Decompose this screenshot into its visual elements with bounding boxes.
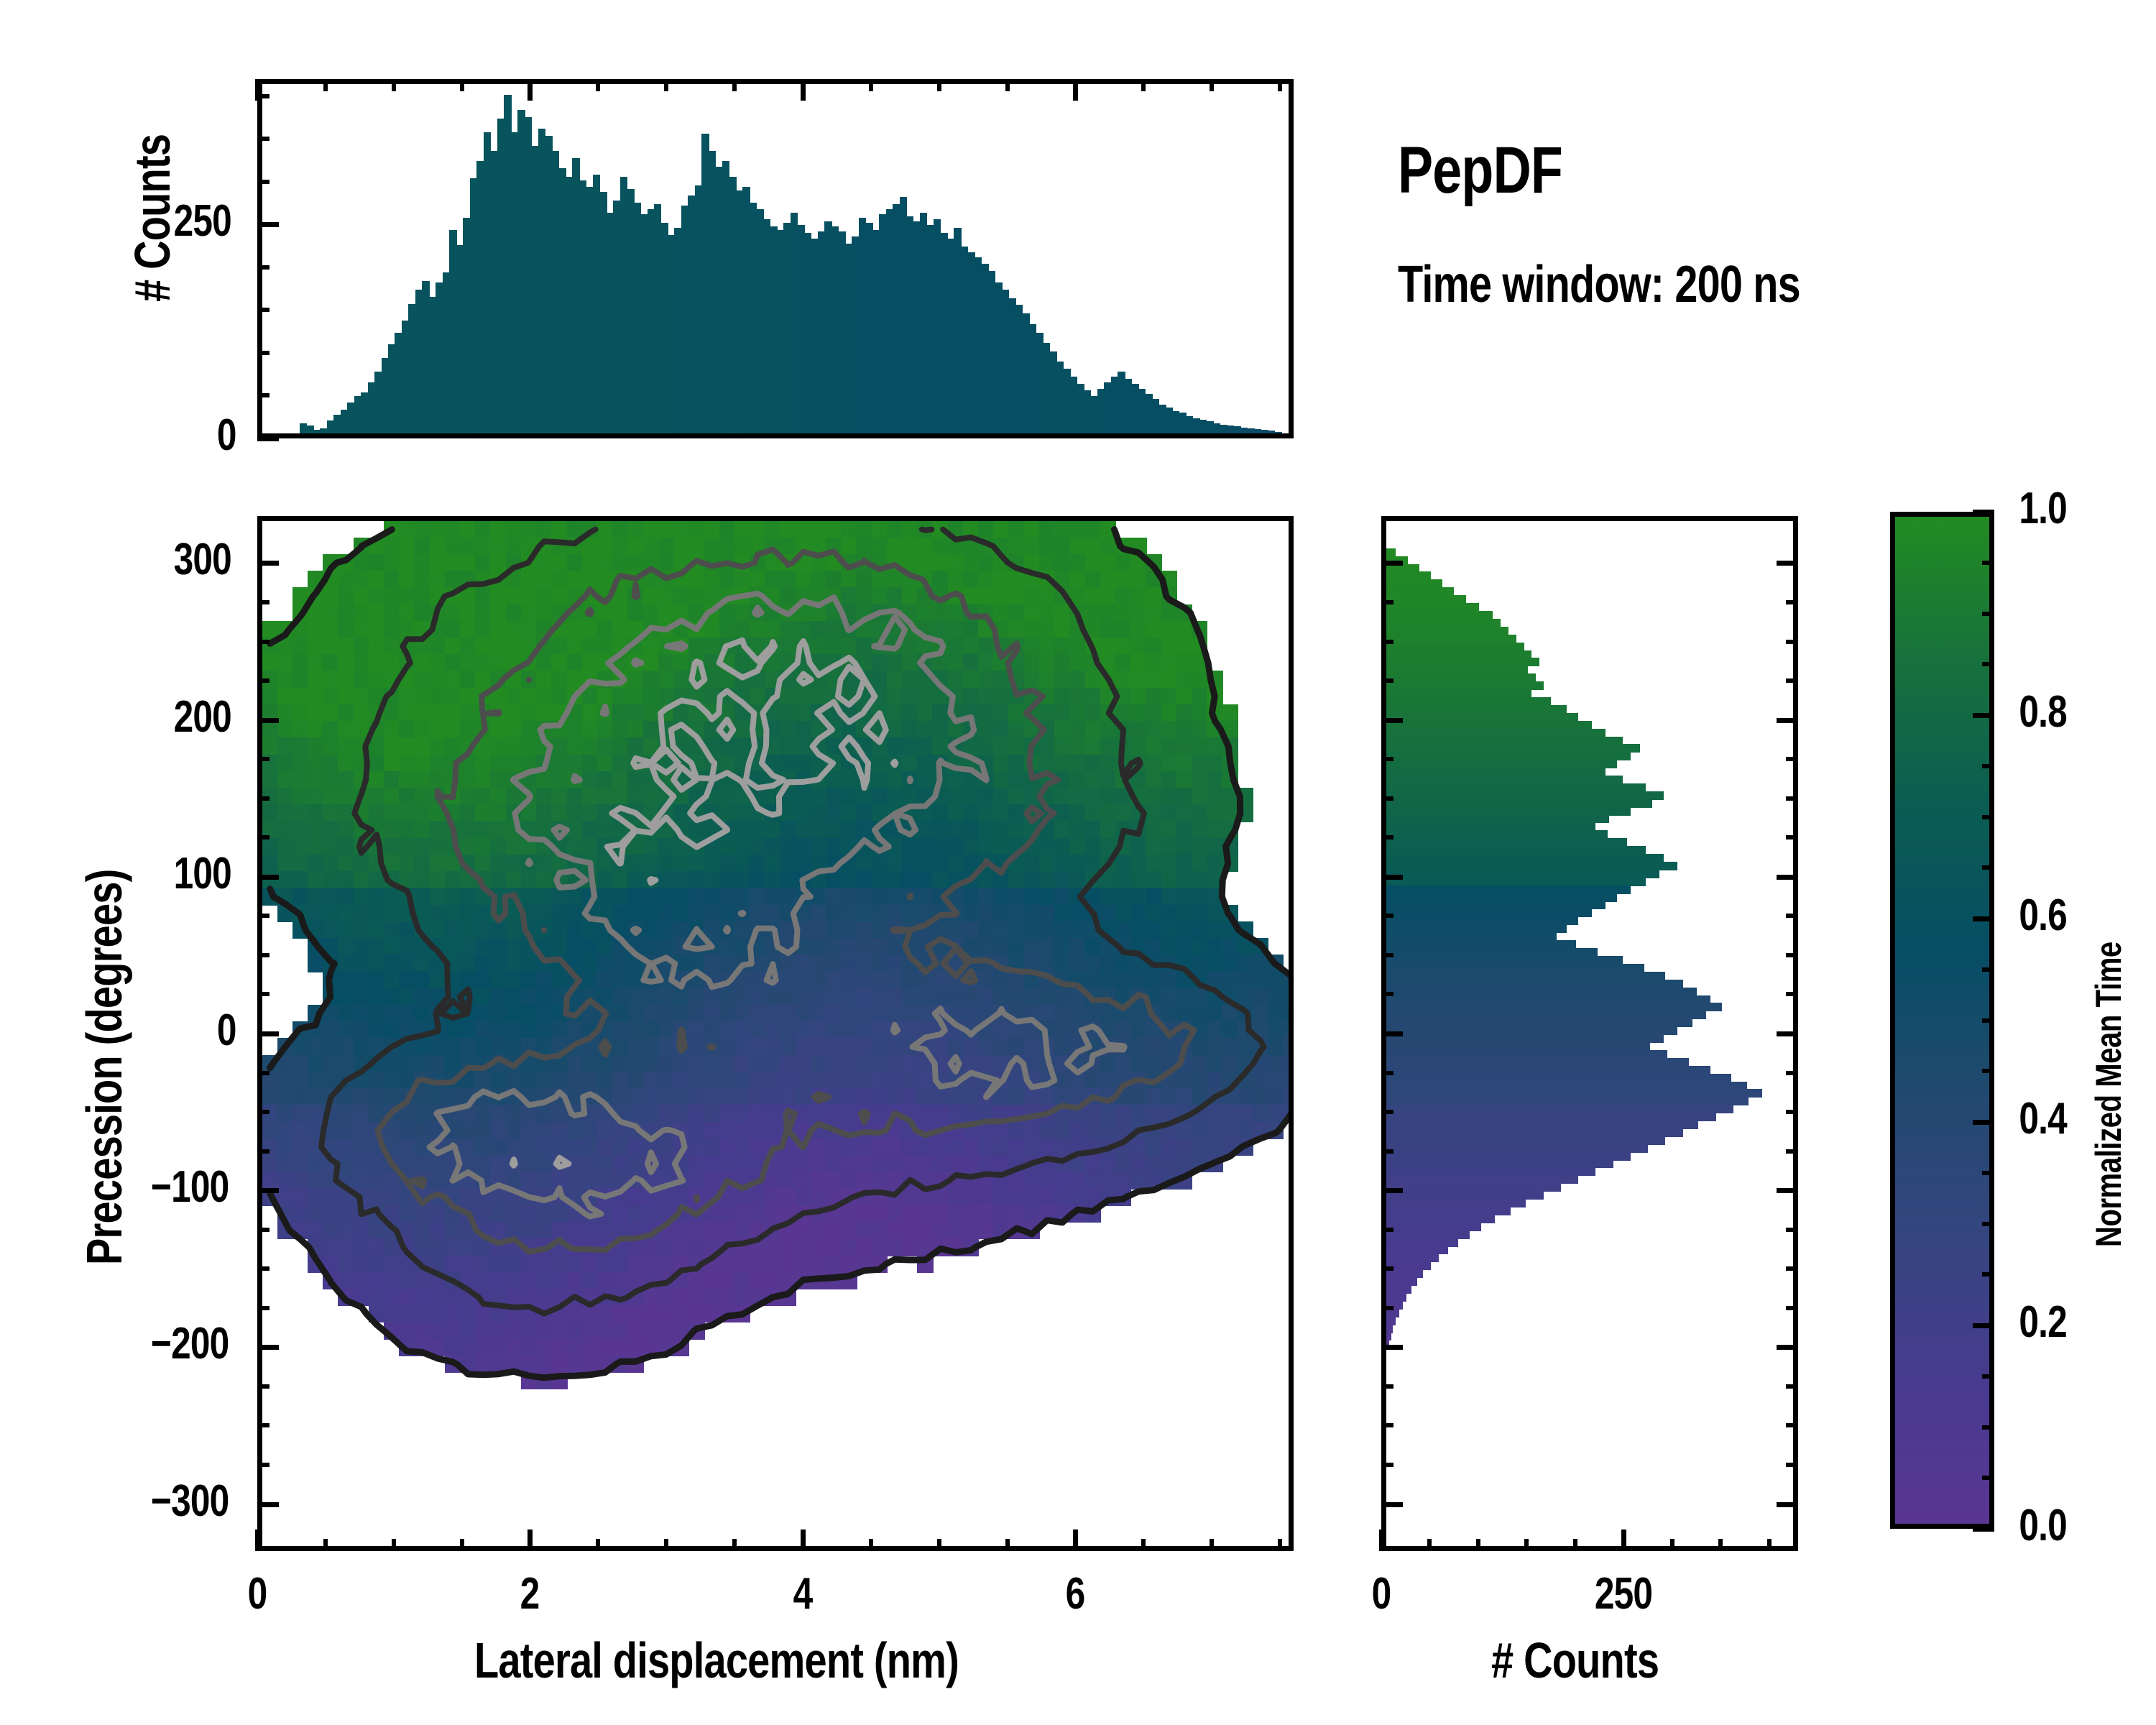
axis-tick: [869, 1539, 873, 1551]
axis-tick: [801, 1529, 806, 1551]
colorbar: [1890, 512, 1994, 1529]
axis-tick-label: 6: [1064, 1568, 1087, 1619]
colorbar-label: Normalized Mean Time: [2088, 865, 2129, 1247]
axis-tick: [1381, 600, 1393, 604]
axis-tick-label: 0.6: [2013, 890, 2073, 941]
axis-tick: [1381, 1463, 1393, 1467]
axis-tick: [1381, 718, 1403, 723]
contour-line: [512, 640, 896, 1167]
axis-tick: [323, 79, 328, 91]
axis-tick: [1381, 992, 1393, 996]
axis-tick: [1786, 914, 1798, 918]
axis-tick: [1777, 1502, 1798, 1507]
axis-tick: [1381, 914, 1393, 918]
axis-tick: [460, 79, 464, 91]
axis-tick: [1379, 1529, 1384, 1551]
top-histogram-plot-area: [262, 84, 1289, 433]
axis-tick: [801, 79, 806, 101]
axis-tick: [1381, 757, 1393, 761]
axis-tick: [257, 1423, 269, 1427]
axis-tick: [1381, 1423, 1393, 1427]
axis-tick-label: 0.0: [2013, 1500, 2073, 1551]
axis-tick: [1982, 1374, 1994, 1379]
axis-tick: [1381, 835, 1393, 839]
axis-tick: [1982, 1425, 1994, 1430]
axis-tick: [1767, 1539, 1772, 1551]
axis-tick: [1982, 612, 1994, 616]
axis-tick: [1381, 1266, 1393, 1271]
axis-tick: [257, 992, 269, 996]
axis-tick: [1786, 678, 1798, 683]
main-panel-ylabel: Precession (degrees): [75, 770, 133, 1265]
axis-tick: [1381, 1031, 1403, 1036]
axis-tick: [1982, 1171, 1994, 1175]
axis-tick: [1141, 79, 1146, 91]
axis-tick: [937, 1539, 941, 1551]
axis-tick: [1973, 1527, 1994, 1532]
axis-tick: [1786, 640, 1798, 644]
axis-tick: [1381, 1306, 1393, 1310]
axis-tick: [257, 222, 279, 227]
axis-tick: [1973, 916, 1994, 921]
axis-tick: [257, 835, 269, 839]
axis-tick: [664, 79, 668, 91]
axis-tick: [1786, 1423, 1798, 1427]
axis-tick: [1427, 1539, 1432, 1551]
axis-tick: [257, 94, 269, 98]
axis-tick: [1786, 1306, 1798, 1310]
axis-tick-label: 0.2: [2013, 1297, 2073, 1348]
contour-overlay: [262, 521, 1289, 1546]
top-panel-ylabel: # Counts: [124, 93, 181, 302]
axis-tick: [664, 1539, 668, 1551]
axis-tick: [1381, 1228, 1393, 1232]
axis-tick: [255, 1529, 260, 1551]
axis-tick-label: 0: [215, 1005, 239, 1056]
axis-tick: [1982, 1476, 1994, 1480]
axis-tick: [1982, 1069, 1994, 1073]
axis-tick: [257, 1384, 269, 1389]
axis-tick: [1573, 1539, 1577, 1551]
axis-tick: [1073, 79, 1078, 101]
axis-tick: [1786, 1463, 1798, 1467]
axis-tick: [257, 436, 279, 441]
axis-tick: [257, 180, 269, 184]
axis-tick: [528, 79, 533, 101]
axis-tick: [596, 79, 600, 91]
axis-tick: [732, 79, 737, 91]
axis-tick: [257, 1266, 269, 1271]
right-marginal-histogram-panel: [1381, 516, 1798, 1551]
axis-tick: [257, 393, 269, 397]
axis-tick-label: −100: [141, 1161, 239, 1213]
axis-tick: [257, 640, 269, 644]
axis-tick: [1973, 510, 1994, 515]
histogram-bar: [1274, 432, 1281, 433]
axis-tick-label: 0: [245, 1568, 269, 1619]
axis-tick: [257, 796, 269, 801]
axis-tick: [257, 351, 269, 355]
top-marginal-histogram-panel: [257, 79, 1294, 438]
main-joint-density-panel: [257, 516, 1294, 1551]
axis-tick: [1982, 1018, 1994, 1023]
axis-tick: [257, 757, 269, 761]
axis-tick: [460, 1539, 464, 1551]
axis-tick-label: 0: [215, 410, 239, 461]
axis-tick: [1786, 600, 1798, 604]
axis-tick: [392, 1539, 396, 1551]
axis-tick: [257, 875, 279, 880]
main-panel-xlabel: Lateral displacement (nm): [474, 1632, 1079, 1689]
axis-tick: [1476, 1539, 1480, 1551]
axis-tick: [1621, 1529, 1626, 1551]
axis-tick: [596, 1539, 600, 1551]
axis-tick-label: −200: [141, 1318, 239, 1369]
figure-canvas: 0250 # Counts PepDF Time window: 200 ns …: [0, 0, 2156, 1725]
axis-tick: [257, 1502, 279, 1507]
axis-tick-label: 250: [1588, 1568, 1659, 1619]
axis-tick: [1786, 1149, 1798, 1154]
axis-tick: [257, 308, 269, 312]
axis-tick: [1777, 1031, 1798, 1036]
colorbar-gradient: [1895, 517, 1989, 1524]
axis-tick: [1210, 1539, 1214, 1551]
axis-tick: [1982, 662, 1994, 666]
axis-tick: [1381, 1149, 1393, 1154]
axis-tick: [1786, 796, 1798, 801]
axis-tick: [257, 1228, 269, 1232]
axis-tick: [257, 1031, 279, 1036]
axis-tick: [257, 265, 269, 270]
contour-line: [378, 549, 1194, 1251]
axis-tick: [1982, 815, 1994, 819]
axis-tick: [1786, 1384, 1798, 1389]
axis-tick: [1381, 953, 1393, 957]
axis-tick-label: 4: [791, 1568, 814, 1619]
axis-tick: [1718, 1539, 1723, 1551]
axis-tick-label: 100: [167, 848, 239, 899]
axis-tick: [528, 1529, 533, 1551]
axis-tick: [1982, 967, 1994, 972]
axis-tick-label: 0: [1369, 1568, 1393, 1619]
axis-tick: [1973, 1323, 1994, 1328]
axis-tick: [1786, 953, 1798, 957]
axis-tick-label: −300: [141, 1476, 239, 1527]
axis-tick: [1381, 640, 1393, 644]
axis-tick: [1141, 1539, 1146, 1551]
axis-tick: [732, 1539, 737, 1551]
axis-tick: [1786, 757, 1798, 761]
axis-tick-label: 2: [518, 1568, 542, 1619]
axis-tick: [1786, 1266, 1798, 1271]
axis-tick: [1777, 875, 1798, 880]
axis-tick: [1381, 1071, 1393, 1075]
axis-tick: [1381, 1502, 1403, 1507]
axis-tick: [1381, 678, 1393, 683]
axis-tick: [1982, 561, 1994, 565]
main-plot-area: [262, 521, 1289, 1546]
axis-tick: [1786, 992, 1798, 996]
axis-tick: [937, 79, 941, 91]
axis-tick: [257, 678, 269, 683]
axis-tick: [257, 1345, 279, 1350]
axis-tick: [1982, 865, 1994, 870]
axis-tick: [1381, 875, 1403, 880]
axis-tick: [257, 1306, 269, 1310]
axis-tick: [1381, 1345, 1403, 1350]
axis-tick-label: 300: [167, 534, 239, 585]
axis-tick: [1381, 796, 1393, 801]
axis-tick: [257, 1463, 269, 1467]
axis-tick: [392, 79, 396, 91]
axis-tick: [1982, 1272, 1994, 1276]
axis-tick: [257, 718, 279, 723]
axis-tick-label: 200: [167, 691, 239, 742]
axis-tick: [869, 79, 873, 91]
axis-tick: [257, 1071, 269, 1075]
axis-tick: [257, 914, 269, 918]
axis-tick-label: 0.4: [2013, 1093, 2073, 1144]
axis-tick-label: 0.8: [2013, 686, 2073, 737]
figure-title: PepDF: [1398, 133, 1603, 208]
figure-subtitle: Time window: 200 ns: [1398, 255, 1901, 314]
axis-tick: [323, 1539, 328, 1551]
axis-tick: [1786, 1228, 1798, 1232]
axis-tick: [1381, 1110, 1393, 1114]
axis-tick: [1670, 1539, 1674, 1551]
axis-tick: [1005, 1539, 1010, 1551]
axis-tick: [1973, 713, 1994, 718]
axis-tick: [257, 953, 269, 957]
axis-tick: [1278, 79, 1282, 91]
axis-tick: [1786, 835, 1798, 839]
axis-tick: [257, 561, 279, 566]
axis-tick: [1278, 1539, 1282, 1551]
right-panel-xlabel: # Counts: [1491, 1632, 1700, 1689]
axis-tick: [1005, 79, 1010, 91]
axis-tick: [1982, 1222, 1994, 1226]
axis-tick: [1210, 79, 1214, 91]
axis-tick: [257, 1188, 279, 1193]
axis-tick: [1381, 561, 1403, 566]
axis-tick: [1073, 1529, 1078, 1551]
axis-tick: [1777, 1188, 1798, 1193]
axis-tick: [1777, 561, 1798, 566]
axis-tick: [1786, 1110, 1798, 1114]
axis-tick: [1973, 1120, 1994, 1125]
axis-tick: [1786, 1071, 1798, 1075]
right-histogram-plot-area: [1386, 521, 1793, 1546]
axis-tick: [1524, 1539, 1529, 1551]
axis-tick: [257, 1110, 269, 1114]
axis-tick: [1777, 718, 1798, 723]
axis-tick: [1982, 764, 1994, 768]
axis-tick: [257, 137, 269, 141]
axis-tick-label: 1.0: [2013, 483, 2073, 534]
axis-tick: [257, 1149, 269, 1154]
axis-tick: [1777, 1345, 1798, 1350]
axis-tick: [1381, 1384, 1393, 1389]
axis-tick: [257, 600, 269, 604]
axis-tick: [1381, 1188, 1403, 1193]
